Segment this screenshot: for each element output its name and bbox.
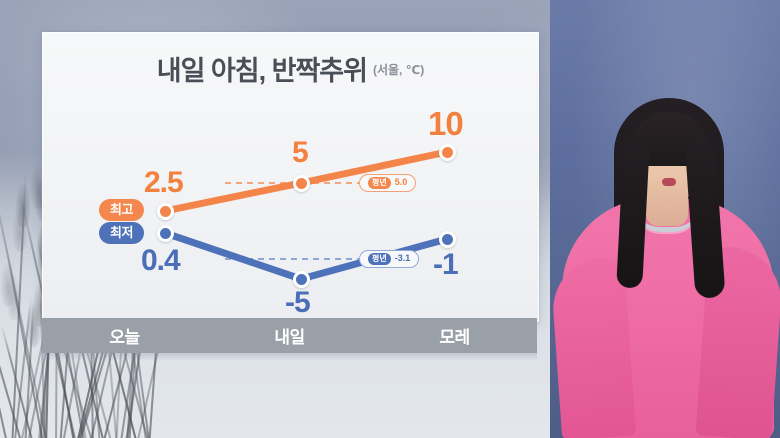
temperature-line-chart: 2.5 5 10 0.4 -5 -1 최고 최저 평년 5.0 평년 -3.1 <box>43 33 538 321</box>
axis-label-dayafter: 모레 <box>372 323 537 348</box>
data-point-low-dayafter[interactable] <box>439 231 456 248</box>
data-point-high-tomorrow[interactable] <box>293 175 310 192</box>
panel-drop-shadow <box>42 353 537 361</box>
data-point-low-today[interactable] <box>157 225 174 242</box>
presenter <box>550 0 780 438</box>
normal-pill-low[interactable]: 평년 -3.1 <box>359 250 419 268</box>
normal-pill-low-key: 평년 <box>368 253 391 265</box>
value-label-low-dayafter: -1 <box>433 248 458 282</box>
axis-label-today: 오늘 <box>42 323 207 348</box>
chart-svg <box>43 33 538 321</box>
value-label-low-tomorrow: -5 <box>285 286 310 320</box>
weather-chart-panel: 내일 아침, 반짝추위(서울, ℃) 2.5 5 10 0. <box>42 32 539 322</box>
value-label-high-dayafter: 10 <box>428 105 463 143</box>
normal-pill-high-key: 평년 <box>368 177 391 189</box>
normal-pill-high-value: 5.0 <box>395 177 408 189</box>
chart-axis-bar: 오늘 내일 모레 <box>42 318 537 353</box>
data-point-high-today[interactable] <box>157 203 174 220</box>
broadcast-screen: 내일 아침, 반짝추위(서울, ℃) 2.5 5 10 0. <box>0 0 780 438</box>
series-tag-low[interactable]: 최저 <box>99 222 144 244</box>
series-tag-high[interactable]: 최고 <box>99 199 144 221</box>
normal-pill-low-value: -3.1 <box>395 253 411 265</box>
value-label-high-today: 2.5 <box>144 166 183 200</box>
axis-label-tomorrow: 내일 <box>207 323 372 348</box>
value-label-low-today: 0.4 <box>141 244 180 278</box>
data-point-high-dayafter[interactable] <box>439 144 456 161</box>
presenter-lips <box>662 178 676 186</box>
value-label-high-tomorrow: 5 <box>292 136 308 170</box>
normal-pill-high[interactable]: 평년 5.0 <box>359 174 416 192</box>
